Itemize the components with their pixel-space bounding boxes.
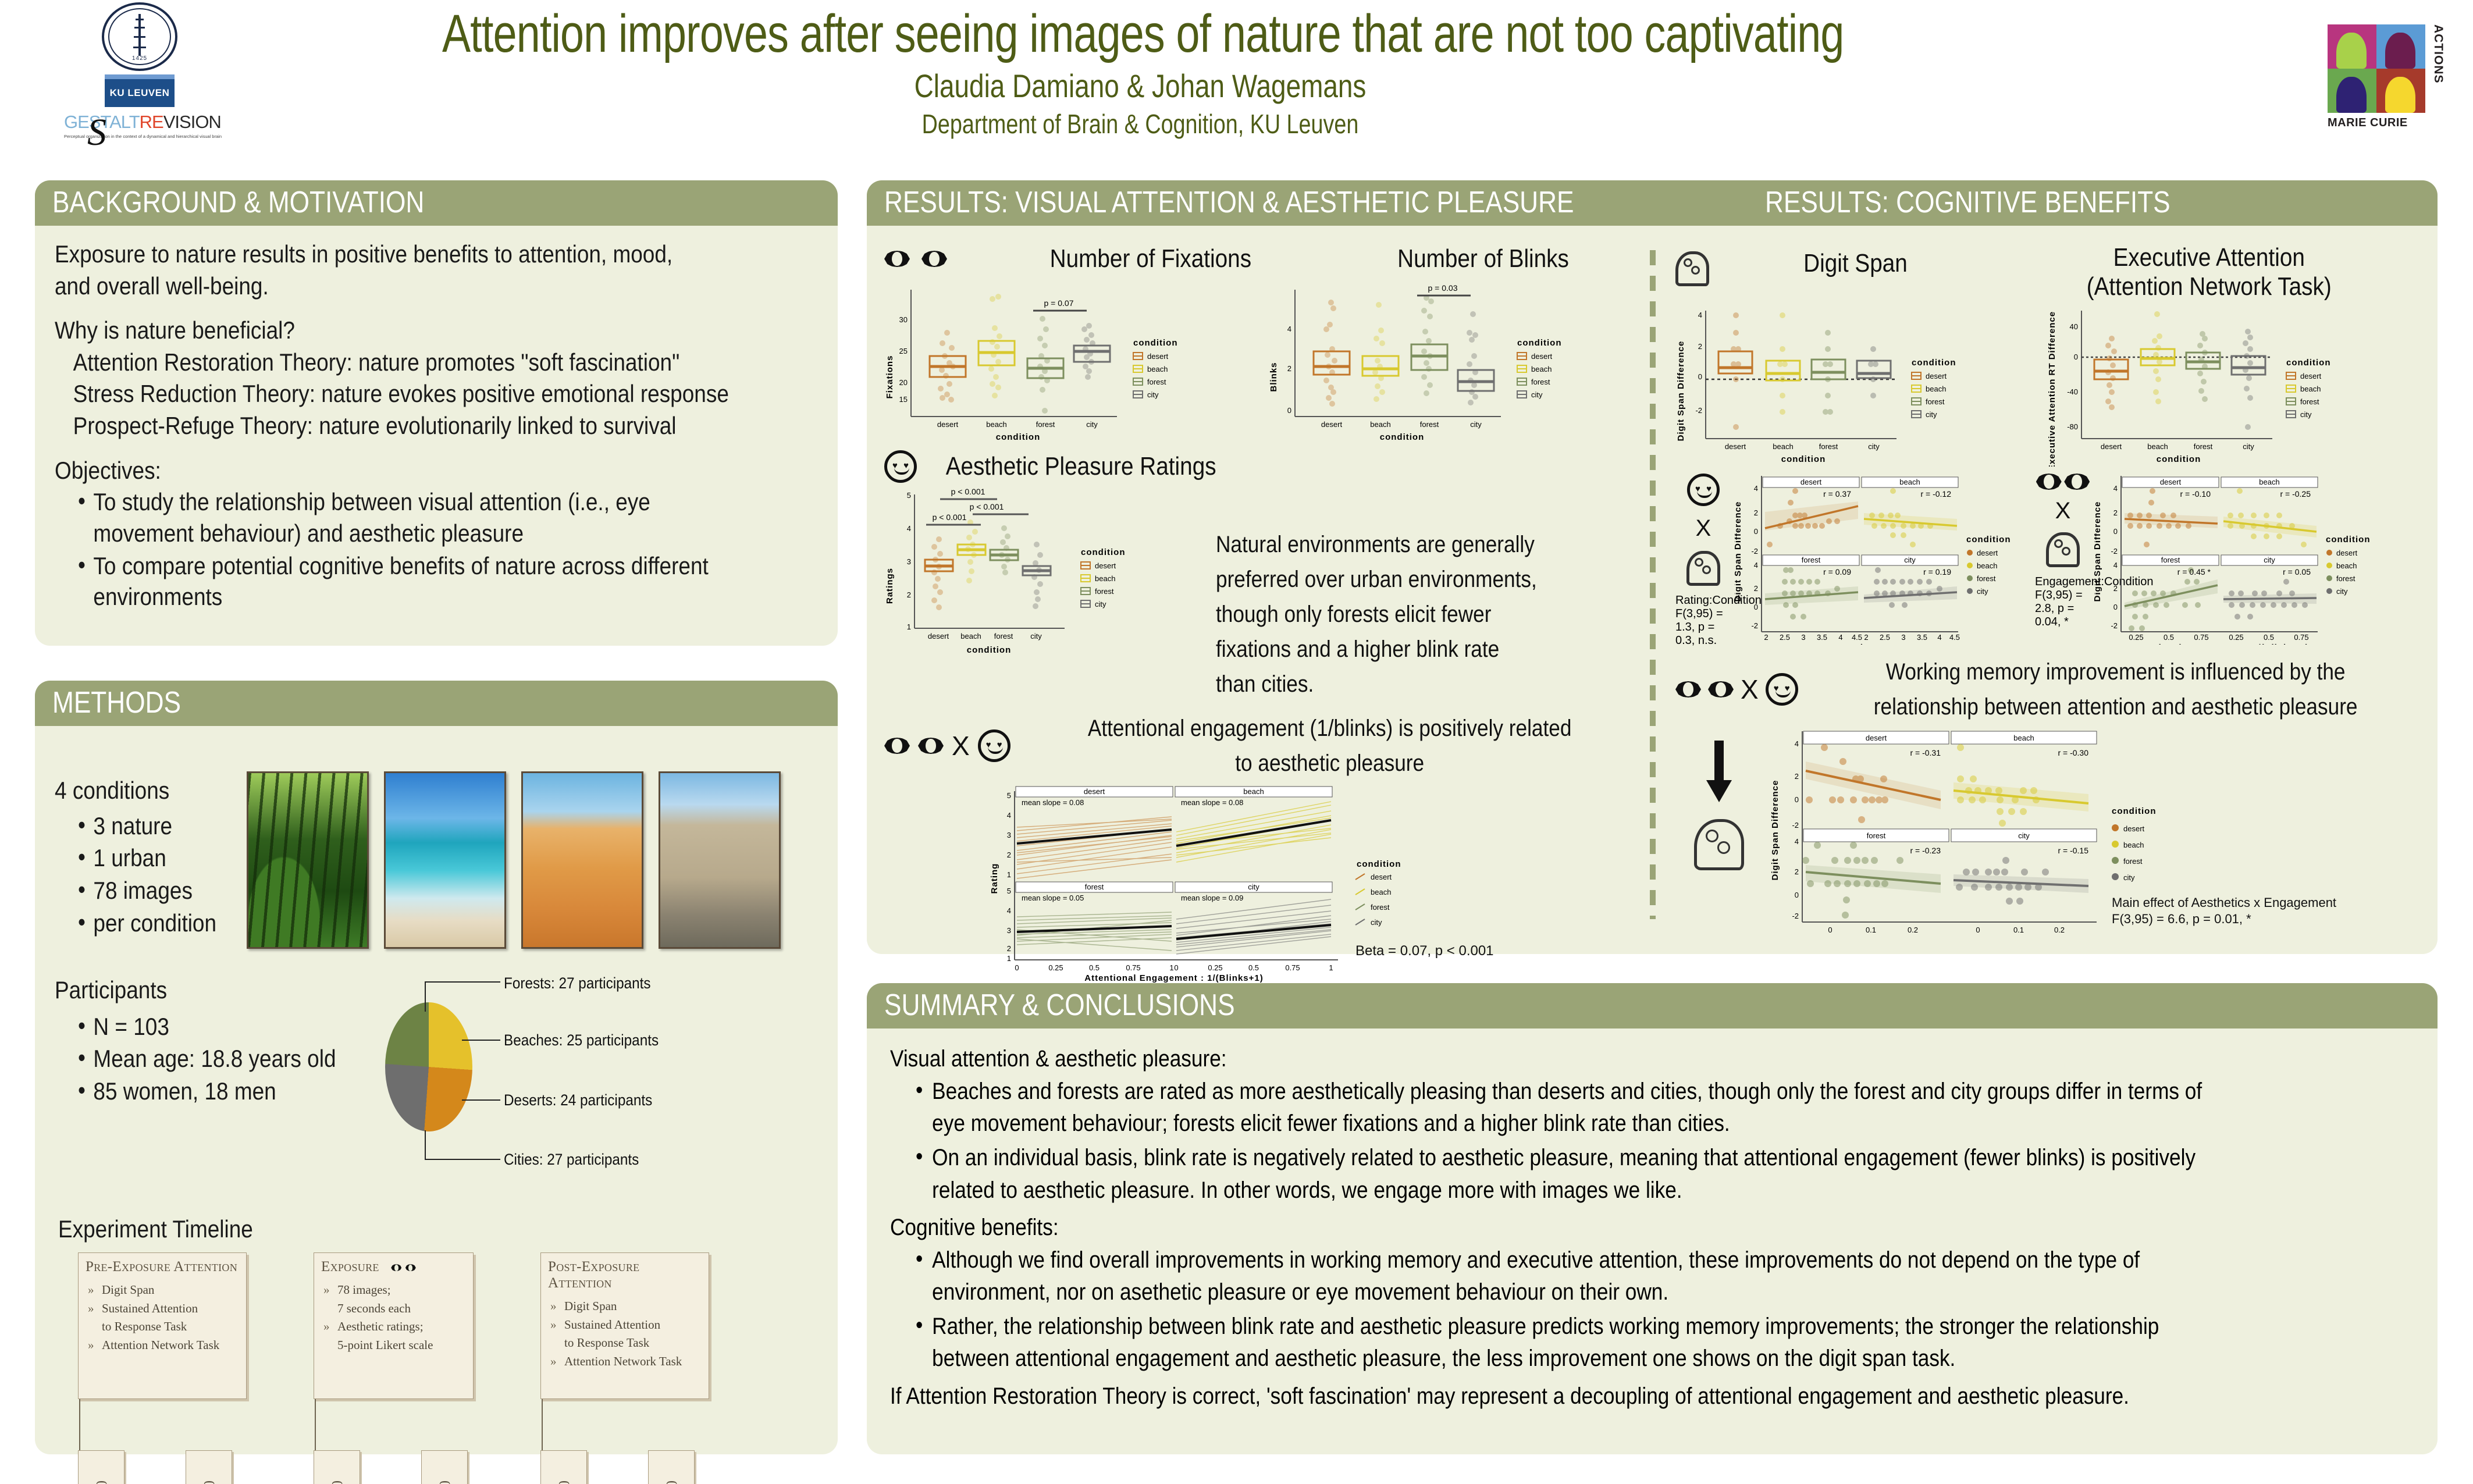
summary-panel: SUMMARY & CONCLUSIONS Visual attention &… [867, 983, 2438, 1454]
y-tick: 1 [907, 622, 911, 631]
ku-leuven-seal-logo: 1425 [102, 2, 177, 71]
conditions-row: 4 conditions 3 nature 1 urban 78 images … [55, 747, 818, 949]
timeline-item: Digit Span [548, 1297, 702, 1316]
y-tick: -80 [2067, 422, 2078, 431]
timeline-step-number: 01 [92, 1481, 110, 1484]
theory-item-2: Prospect-Refuge Theory: nature evolution… [55, 410, 727, 442]
y-tick: 4 [1795, 739, 1799, 748]
aesthetics-facet-y-title: Digit Span Difference [1770, 780, 1780, 881]
page-title: Attention improves after seeing images o… [442, 6, 1838, 62]
facet-label: desert [1866, 734, 1887, 742]
x-tick: city [1470, 420, 1482, 429]
legend-item: desert [1531, 352, 1553, 361]
legend-title: condition [1517, 338, 1562, 348]
pie-slices [385, 1002, 472, 1131]
facet-slope-label: mean slope = 0.08 [1181, 798, 1243, 807]
x-tick: 0.25 [1208, 963, 1222, 972]
participant-item: 85 women, 18 men [78, 1076, 344, 1107]
theory-item-0: Attention Restoration Theory: nature pro… [55, 347, 727, 379]
facet-r-value: r = 0.05 [2283, 567, 2311, 576]
facet-label: desert [2160, 478, 2182, 486]
timeline-item: 78 images; [321, 1281, 466, 1300]
condition-item: 1 urban [78, 842, 226, 874]
fixations-x-axis-title: condition [996, 432, 1041, 442]
gestalt-s-mark-icon: S [87, 111, 106, 155]
facet-r-value: r = -0.10 [2180, 489, 2211, 499]
engagement-facet-x-title: Attentional Engagement : 1/(Blinks+1) [2130, 643, 2308, 645]
legend-item: forest [1926, 397, 1945, 406]
x-tick: beach [986, 420, 1006, 429]
executive-attention-boxplot-chart: Executive Attention RT Difference 40 0 -… [2048, 304, 2403, 467]
engagement-digitspan-facet-chart: Digit Span Difference 4 2 0 -2 4 2 0 -2 … [2094, 470, 2385, 645]
fixations-chart-title: Number of Fixations [1050, 244, 1251, 273]
blinks-pvalue: p = 0.03 [1428, 283, 1458, 293]
eye-icon [921, 251, 947, 267]
x-tick: 0.25 [2229, 633, 2243, 642]
legend-item: forest [1147, 378, 1166, 386]
legend-item: desert [2336, 549, 2358, 557]
methods-heading: METHODS [52, 685, 181, 720]
x-tick: 1 [1329, 963, 1333, 972]
x-tick: beach [2147, 442, 2168, 451]
facet-label: city [2264, 556, 2275, 564]
facet-r-value: r = -0.23 [1910, 846, 1941, 855]
x-tick: 2 [1764, 633, 1768, 642]
summary-bullet: Rather, the relationship between blink r… [916, 1311, 2234, 1375]
facet-label: forest [2161, 556, 2180, 564]
legend-item: desert [2300, 372, 2322, 380]
times-symbol: X [952, 730, 970, 761]
x-tick: city [1086, 420, 1098, 429]
results-visual-heading: RESULTS: VISUAL ATTENTION & AESTHETIC PL… [884, 185, 1574, 220]
working-memory-heading-line2: relationship between attention and aesth… [1842, 689, 2389, 724]
rating-digitspan-facet-chart: Digit Span Difference 4 2 0 -2 4 2 0 -2 … [1735, 470, 2026, 645]
facet-r-value: r = -0.31 [1910, 748, 1941, 757]
engagement-facet-y-title: Digit Span Difference [2094, 501, 2102, 602]
x-tick: 3 [1901, 633, 1905, 642]
x-tick: 0.1 [2013, 926, 2024, 934]
timeline-box-title: Pre-exposure Attention [86, 1259, 239, 1275]
summary-heading: SUMMARY & CONCLUSIONS [884, 988, 1235, 1023]
y-tick: 2 [1795, 867, 1799, 876]
facet-label: beach [1243, 787, 1264, 796]
timeline-step-number: 04 [436, 1481, 453, 1484]
legend-item: beach [1977, 561, 1997, 570]
eye-icon [1708, 681, 1734, 697]
legend-title: condition [1966, 535, 2011, 545]
x-tick: 0 [1174, 963, 1178, 972]
y-tick: -40 [2067, 387, 2078, 396]
beach-photo-thumbnail [384, 771, 506, 949]
eye-icon [405, 1264, 416, 1271]
y-tick: 0 [2074, 353, 2078, 361]
timeline-box-pre-attention: Pre-exposure Attention Digit Span Sustai… [78, 1252, 247, 1399]
y-tick: 3 [907, 557, 911, 566]
engagement-y-axis-title: Rating [990, 863, 999, 894]
legend-item: city [2123, 873, 2135, 882]
y-tick: -2 [2111, 621, 2118, 630]
eye-icon [2036, 474, 2062, 490]
legend-item: beach [1531, 365, 1552, 373]
y-tick: -2 [1751, 547, 1758, 556]
y-tick: -2 [1792, 821, 1799, 830]
facet-slope-label: mean slope = 0.08 [1022, 798, 1084, 807]
participants-row: Participants N = 103 Mean age: 18.8 year… [55, 974, 818, 1195]
timeline-item-cont: to Response Task [86, 1318, 239, 1336]
facet-r-value: r = 0.19 [1923, 567, 1951, 576]
timeline-step-06: 06 [648, 1450, 695, 1484]
facet-r-value: r = -0.12 [1920, 489, 1951, 499]
legend-item: desert [1095, 561, 1116, 570]
x-tick: 2.5 [1780, 633, 1790, 642]
x-tick: desert [928, 632, 949, 640]
pie-label-cities: Cities: 27 participants [504, 1151, 639, 1169]
legend-item: beach [2123, 841, 2144, 849]
timeline-step-number: 06 [663, 1481, 680, 1484]
x-tick: desert [937, 420, 959, 429]
visual-attention-results: Number of Fixations Number of Blinks Fix… [884, 244, 1641, 983]
x-tick: 0.75 [2294, 633, 2308, 642]
fixations-pvalue: p = 0.07 [1044, 298, 1074, 308]
fixations-boxplot-chart: Fixations 30 25 20 15 [884, 278, 1245, 447]
marie-curie-label: MARIE CURIE [2328, 116, 2408, 130]
engagement-beta-stat: Beta = 0.07, p < 0.001 [1355, 943, 1494, 959]
facet-label: beach [2259, 478, 2279, 486]
y-tick: 2 [1287, 364, 1291, 373]
y-tick: 2 [1795, 772, 1799, 781]
legend-item: city [1926, 410, 1937, 419]
participant-item: Mean age: 18.8 years old [78, 1043, 344, 1074]
legend-title: condition [1357, 859, 1401, 869]
x-tick: 0.25 [2129, 633, 2143, 642]
timeline-step-04: 04 [421, 1450, 468, 1484]
gestalt-logo-part3: VISION [163, 112, 221, 132]
facet-label: city [2018, 831, 2030, 840]
y-tick: -2 [1792, 912, 1799, 920]
summary-bullet: Beaches and forests are rated as more ae… [916, 1076, 2234, 1140]
x-tick: 4 [1937, 633, 1941, 642]
legend-title: condition [1081, 547, 1126, 557]
engagement-condition-stat-line1: Engagement:Condition [2035, 575, 2091, 589]
x-tick: 3.5 [1917, 633, 1927, 642]
y-tick: -2 [1695, 406, 1702, 415]
rating-interaction-block: ♥♥ X Rating:Condition F(3,95) = 1.3, p =… [1675, 470, 2026, 647]
timeline-item: Attention Network Task [86, 1336, 239, 1355]
legend-item: forest [1371, 903, 1390, 912]
x-tick: city [2243, 442, 2254, 451]
y-tick: 1 [1007, 954, 1011, 963]
author-list: Claudia Damiano & Johan Wagemans [425, 67, 1856, 105]
gestalt-logo-part2: RE [140, 112, 163, 132]
rating-condition-stat-line1: Rating:Condition [1675, 594, 1731, 607]
pie-label-deserts: Deserts: 24 participants [504, 1091, 652, 1109]
legend-item: beach [1147, 365, 1168, 373]
x-tick: 4 [1838, 633, 1842, 642]
y-tick: 0 [2113, 527, 2118, 536]
blinks-boxplot-chart: Blinks 4 2 0 [1268, 278, 1629, 447]
engagement-x-axis-title: Attentional Engagement : 1/(Blinks+1) [1084, 973, 1263, 983]
cognitive-benefits-results: Digit Span Executive Attention (Attentio… [1675, 243, 2426, 935]
exec-x-axis-title: condition [2157, 454, 2201, 464]
facet-r-value: r = 0.45 * [2177, 567, 2211, 576]
x-tick: forest [1819, 442, 1838, 451]
ratings-pvalue-0: p < 0.001 [933, 513, 967, 522]
legend-item: forest [2123, 857, 2143, 866]
y-tick: 5 [1007, 791, 1011, 800]
summary-section2-label: Cognitive benefits: [890, 1215, 2232, 1241]
objective-item: To compare potential cognitive benefits … [78, 550, 729, 613]
eye-icon [918, 738, 944, 754]
timeline-step-number: 02 [200, 1481, 218, 1484]
eye-icon [884, 738, 910, 754]
y-tick: 4 [1698, 311, 1702, 319]
smiley-hearts-icon: ♥♥ [1687, 474, 1720, 506]
facet-r-value: r = -0.15 [2058, 846, 2088, 855]
engagement-interaction-block: X Engagement:Condition F(3,95) = 2.8, p … [2035, 470, 2385, 647]
rating-condition-stat-line2: F(3,95) = 1.3, p = 0.3, n.s. [1675, 607, 1731, 647]
legend-item: city [1977, 587, 1988, 596]
participants-label: Participants [55, 974, 341, 1006]
results-column-divider [1650, 250, 1656, 919]
legend-item: desert [1147, 352, 1169, 361]
objectives-label: Objectives: [55, 455, 727, 487]
timeline-box-exposure: Exposure 78 images; 7 seconds each Aesth… [314, 1252, 474, 1399]
aesthetics-engagement-facet-chart: Digit Span Difference 4 2 0 -2 4 2 0 -2 … [1769, 725, 2350, 935]
facet-label: city [1248, 882, 1259, 891]
legend-title: condition [2326, 535, 2371, 545]
y-tick: 4 [1287, 325, 1291, 333]
x-tick: 0.2 [1908, 926, 1918, 934]
y-tick: 0 [1754, 603, 1758, 611]
marie-curie-actions-label: ACTIONS [2428, 24, 2445, 113]
conditions-label: 4 conditions [55, 775, 223, 807]
legend-item: forest [1531, 378, 1550, 386]
y-tick: 5 [907, 491, 911, 500]
x-tick: city [1868, 442, 1880, 451]
summary-bullet: Although we find overall improvements in… [916, 1244, 2234, 1308]
ratings-boxplot-chart: Ratings 5 4 3 2 1 [884, 484, 1210, 659]
x-tick: 0.1 [1866, 926, 1876, 934]
y-tick: 4 [1754, 561, 1758, 570]
facet-r-value: r = -0.30 [2058, 748, 2088, 757]
legend-item: city [2336, 587, 2348, 596]
y-tick: 4 [1007, 811, 1011, 820]
digit-span-chart-title: Digit Span [1803, 243, 1908, 301]
experiment-timeline: Pre-exposure Attention Digit Span Sustai… [72, 1252, 828, 1484]
exec-attention-title-line2: (Attention Network Task) [2087, 272, 2332, 301]
y-tick: 25 [899, 347, 908, 355]
legend-title: condition [2286, 358, 2331, 368]
engagement-condition-stat-line2: F(3,95) = 2.8, p = 0.04, * [2035, 589, 2091, 629]
legend-title: condition [1133, 338, 1178, 348]
summary-section1-label: Visual attention & aesthetic pleasure: [890, 1046, 2232, 1072]
gestalt-logo-tagline: Perceptual organization in the context o… [64, 134, 215, 139]
facet-label: city [1904, 556, 1916, 564]
legend-item: desert [1926, 372, 1947, 380]
summary-bullet: On an individual basis, blink rate is ne… [916, 1142, 2234, 1206]
timeline-item-cont: to Response Task [548, 1334, 702, 1353]
brain-gears-icon [1675, 251, 1709, 286]
y-tick: 2 [1007, 850, 1011, 859]
ku-leuven-logo: KU LEUVEN [105, 74, 175, 107]
legend-item: city [2300, 410, 2312, 419]
timeline-box-title: Exposure [321, 1259, 379, 1275]
background-intro-line1: Exposure to nature results in positive b… [55, 239, 727, 271]
ratings-pvalue-1: p < 0.001 [951, 487, 985, 496]
seal-year: 1425 [104, 55, 175, 62]
timeline-item: Sustained Attention [548, 1316, 702, 1334]
facet-label: forest [1802, 556, 1821, 564]
x-tick: forest [1036, 420, 1055, 429]
y-tick: 15 [899, 395, 908, 404]
digitspan-y-axis-title: Digit Span Difference [1676, 341, 1686, 442]
y-tick: 2 [1754, 584, 1758, 593]
brain-gears-icon [2046, 532, 2080, 567]
legend-item: city [1531, 390, 1543, 399]
y-tick: 2 [2113, 584, 2118, 593]
participant-item: N = 103 [78, 1011, 344, 1042]
timeline-title: Experiment Timeline [58, 1215, 727, 1243]
y-tick: 4 [2113, 561, 2118, 570]
objectives-list: To study the relationship between visual… [55, 486, 818, 613]
facet-label: beach [1899, 478, 1920, 486]
x-tick: desert [1725, 442, 1746, 451]
legend-item: beach [1371, 888, 1391, 896]
legend-item: desert [2123, 824, 2145, 833]
condition-item-cont: per condition [78, 908, 226, 939]
city-photo-thumbnail [659, 771, 781, 949]
y-tick: 0 [1754, 527, 1758, 536]
legend-item: beach [2300, 385, 2321, 393]
times-symbol: X [2035, 498, 2091, 524]
x-tick: desert [2101, 442, 2122, 451]
facet-label: desert [1801, 478, 1822, 486]
legend-item: desert [1371, 873, 1392, 881]
main-effect-line2: F(3,95) = 6.6, p = 0.01, * [2112, 912, 2251, 926]
legend-item: beach [1095, 574, 1115, 583]
y-tick: 0 [1795, 795, 1799, 804]
digitspan-x-axis-title: condition [1781, 454, 1826, 464]
x-tick: desert [1321, 420, 1343, 429]
y-tick: 5 [1007, 887, 1011, 895]
working-memory-heading-line1: Working memory improvement is influenced… [1842, 654, 2389, 689]
times-symbol: X [1741, 674, 1759, 705]
y-tick: 4 [1795, 837, 1799, 846]
forest-photo-thumbnail [247, 771, 369, 949]
y-tick: 4 [907, 524, 911, 533]
legend-title: condition [1912, 358, 1956, 368]
background-heading: BACKGROUND & MOTIVATION [52, 185, 424, 220]
x-tick: beach [1370, 420, 1390, 429]
x-tick: beach [960, 632, 981, 640]
x-tick: 3 [1801, 633, 1805, 642]
results-panel-header: RESULTS: VISUAL ATTENTION & AESTHETIC PL… [867, 180, 2438, 226]
digit-span-boxplot-chart: Digit Span Difference 4 2 0 -2 [1675, 304, 2030, 467]
x-tick: forest [1420, 420, 1439, 429]
y-tick: -2 [1751, 621, 1758, 630]
legend-item: forest [1977, 574, 1996, 583]
timeline-item-cont: 7 seconds each [321, 1300, 466, 1318]
timeline-step-05: 05 [540, 1450, 587, 1484]
fixations-y-axis-title: Fixations [885, 355, 895, 399]
summary-final-statement: If Attention Restoration Theory is corre… [890, 1383, 2232, 1410]
timeline-step-number: 03 [328, 1481, 346, 1484]
legend-item: city [1147, 390, 1159, 399]
conditions-text: 4 conditions 3 nature 1 urban 78 images … [55, 747, 247, 949]
y-tick: 2 [1007, 944, 1011, 953]
rating-facet-y-title: Digit Span Difference [1735, 501, 1743, 602]
smiley-hearts-icon: ♥♥ [978, 729, 1010, 762]
timeline-step-01: 01 [78, 1450, 124, 1484]
timeline-item: Attention Network Task [548, 1353, 702, 1371]
ratings-x-axis-title: condition [967, 645, 1012, 655]
timeline-item-cont: 5-point Likert scale [321, 1336, 466, 1355]
y-tick: 40 [2070, 322, 2078, 331]
facet-r-value: r = 0.37 [1823, 489, 1851, 499]
facet-slope-label: mean slope = 0.09 [1181, 894, 1243, 902]
condition-item: 78 images [78, 875, 226, 906]
x-tick: 4.5 [1852, 633, 1862, 642]
y-tick: 2 [907, 590, 911, 599]
x-tick: beach [1773, 442, 1793, 451]
summary-section2-list: Although we find overall improvements in… [890, 1244, 2414, 1375]
eye-icon [391, 1264, 401, 1271]
condition-item: 3 nature [78, 810, 226, 842]
y-tick: 4 [1754, 484, 1758, 493]
y-tick: 2 [1698, 342, 1702, 351]
gestalt-revision-logo: GESTALTREVISION Perceptual organization … [64, 112, 215, 145]
y-tick: 3 [1007, 831, 1011, 839]
facet-label: desert [1084, 787, 1105, 796]
facet-r-value: r = -0.25 [2280, 489, 2311, 499]
blinks-y-axis-title: Blinks [1269, 362, 1279, 392]
x-tick: 1 [1169, 963, 1173, 972]
y-tick: 0 [2113, 603, 2118, 611]
participants-text: Participants N = 103 Mean age: 18.8 year… [55, 974, 380, 1195]
x-tick: 0.25 [1048, 963, 1063, 972]
objective-item: To study the relationship between visual… [78, 486, 729, 549]
blinks-x-axis-title: condition [1380, 432, 1425, 442]
participants-list: N = 103 Mean age: 18.8 years old 85 wome… [55, 1011, 380, 1107]
smiley-hearts-icon: ♥♥ [1766, 673, 1798, 706]
timeline-step-03: 03 [314, 1450, 360, 1484]
x-tick: 0.75 [1285, 963, 1300, 972]
x-tick: 2.5 [1880, 633, 1890, 642]
y-tick: 30 [899, 315, 908, 324]
blinks-chart-title: Number of Blinks [1397, 244, 1569, 273]
theory-item-1: Stress Reduction Theory: nature evokes p… [55, 378, 727, 410]
background-panel-header: BACKGROUND & MOTIVATION [35, 180, 838, 226]
participants-pie-chart: Forests: 27 participants Beaches: 25 par… [380, 974, 730, 1195]
engagement-heading-line2: to aesthetic pleasure [1056, 746, 1603, 781]
x-tick: city [1030, 632, 1042, 640]
legend-item: city [1371, 918, 1382, 927]
poster-header: 1425 KU LEUVEN GESTALTREVISION Perceptua… [0, 0, 2473, 175]
desert-photo-thumbnail [521, 771, 643, 949]
x-tick: 0.5 [1089, 963, 1099, 972]
x-tick: 0 [1828, 926, 1832, 934]
background-question: Why is nature beneficial? [55, 315, 727, 347]
facet-label: forest [1867, 831, 1886, 840]
x-tick: forest [2194, 442, 2213, 451]
legend-item: forest [2336, 574, 2355, 583]
smiley-hearts-icon: ♥♥ [884, 450, 917, 483]
y-tick: 2 [1754, 508, 1758, 517]
rating-facet-x-title: Rating [1845, 643, 1876, 645]
brain-gears-icon [1694, 819, 1744, 870]
summary-panel-header: SUMMARY & CONCLUSIONS [867, 983, 2438, 1029]
legend-item: beach [1926, 385, 1946, 393]
